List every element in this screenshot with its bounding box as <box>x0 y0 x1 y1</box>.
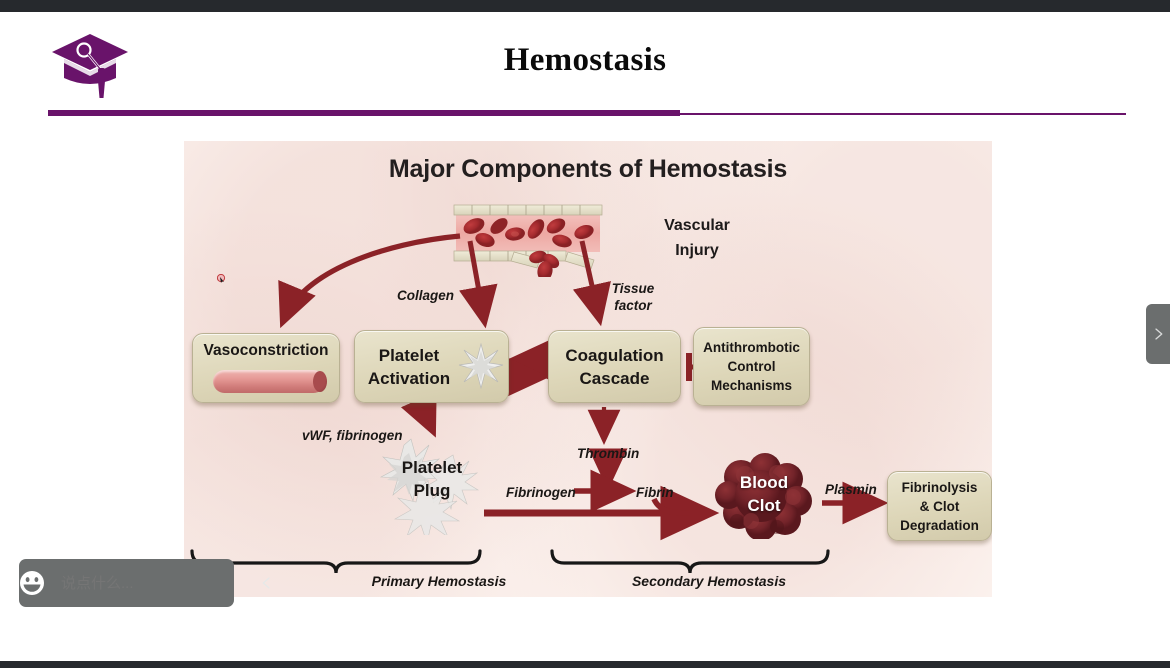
box-platelet-activation[interactable]: Platelet Activation <box>354 330 509 403</box>
tissue-factor-line1: Tissue <box>612 281 655 296</box>
antithrombotic-line2: Control <box>728 359 776 374</box>
blood-vessel-tube-icon <box>213 370 325 393</box>
slide-header: Hemostasis <box>0 12 1170 127</box>
box-platelet-activation-label: Platelet Activation <box>363 344 455 390</box>
label-fibrinogen: Fibrinogen <box>506 484 576 501</box>
label-primary-hemostasis: Primary Hemostasis <box>284 573 594 590</box>
coagulation-line2: Cascade <box>580 369 650 388</box>
mouse-cursor-icon <box>217 270 226 279</box>
fibrinolysis-line1: Fibrinolysis <box>902 480 978 495</box>
hemostasis-diagram: Major Components of Hemostasis <box>184 141 992 597</box>
fibrinolysis-line3: Degradation <box>900 518 979 533</box>
blood-clot-label: Blood Clot <box>715 471 813 517</box>
box-fibrinolysis[interactable]: Fibrinolysis & Clot Degradation <box>887 471 992 541</box>
antithrombotic-line3: Mechanisms <box>711 378 792 393</box>
platelet-starburst-icon <box>458 343 504 389</box>
label-secondary-hemostasis: Secondary Hemostasis <box>554 573 864 590</box>
platelet-activation-line2: Activation <box>368 369 450 388</box>
platelet-activation-line1: Platelet <box>379 346 439 365</box>
smiley-face-icon[interactable] <box>19 570 45 596</box>
comment-input[interactable] <box>45 575 260 592</box>
platelet-plug-line2: Plug <box>414 481 451 500</box>
box-antithrombotic-control[interactable]: Antithrombotic Control Mechanisms <box>693 327 810 406</box>
window-top-bar <box>0 0 1170 12</box>
tissue-factor-line2: factor <box>614 298 652 313</box>
comment-bar[interactable] <box>19 559 234 607</box>
label-vwf-fibrinogen: vWF, fibrinogen <box>302 427 403 444</box>
window-bottom-bar <box>0 661 1170 668</box>
box-vasoconstriction-label: Vasoconstriction <box>193 342 339 360</box>
platelet-plug-line1: Platelet <box>402 458 462 477</box>
antithrombotic-line1: Antithrombotic <box>703 340 800 355</box>
platelet-plug-label: Platelet Plug <box>371 456 493 502</box>
side-panel-expand-button[interactable] <box>1146 304 1170 364</box>
chevron-right-icon <box>1152 326 1165 342</box>
header-rule-thick <box>48 110 680 116</box>
coagulation-line1: Coagulation <box>565 346 663 365</box>
box-antithrombotic-label: Antithrombotic Control Mechanisms <box>703 338 800 395</box>
blood-clot-line2: Clot <box>747 496 780 515</box>
label-plasmin: Plasmin <box>825 481 877 498</box>
label-thrombin: Thrombin <box>577 445 639 462</box>
chevron-left-icon[interactable] <box>260 575 273 591</box>
box-coagulation-cascade[interactable]: Coagulation Cascade <box>548 330 681 403</box>
page-title: Hemostasis <box>0 42 1170 79</box>
fibrinolysis-line2: & Clot <box>920 499 960 514</box>
label-tissue-factor: Tissue factor <box>605 280 661 314</box>
box-coagulation-cascade-label: Coagulation Cascade <box>565 344 663 390</box>
header-rule-thin <box>680 113 1126 115</box>
label-collagen: Collagen <box>397 287 454 304</box>
app-window: Hemostasis Major Components of Hemostasi… <box>0 0 1170 668</box>
box-vasoconstriction[interactable]: Vasoconstriction <box>192 333 340 403</box>
label-fibrin: Fibrin <box>636 484 674 501</box>
box-fibrinolysis-label: Fibrinolysis & Clot Degradation <box>900 478 979 535</box>
blood-clot-line1: Blood <box>740 473 788 492</box>
